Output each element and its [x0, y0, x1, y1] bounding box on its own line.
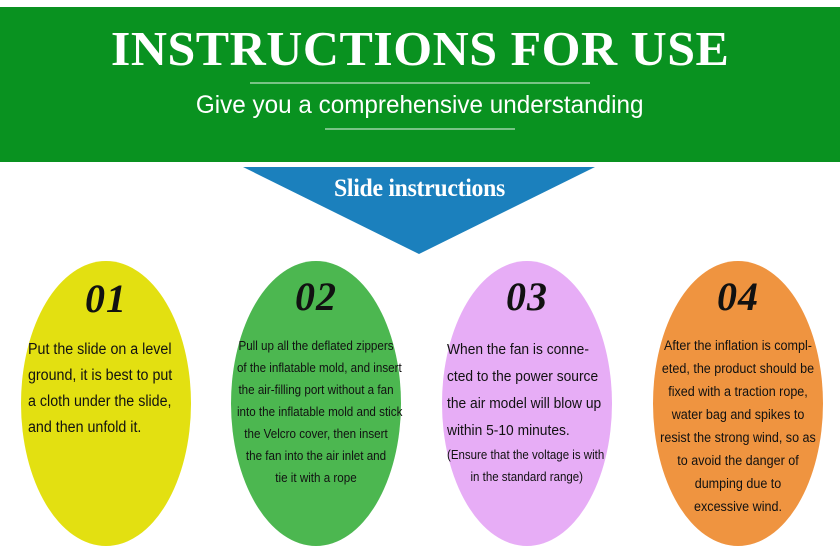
step-text-line: Pull up all the deflated zippers: [237, 335, 395, 357]
step-card-01: 01 Put the slide on a level ground, it i…: [21, 261, 191, 546]
instructions-infographic: INSTRUCTIONS FOR USE Give you a comprehe…: [0, 0, 840, 553]
page-title: INSTRUCTIONS FOR USE: [111, 23, 729, 74]
section-banner-label: Slide instructions: [252, 175, 587, 203]
step-text-line: within 5-10 minutes.: [447, 417, 599, 444]
step-text-line: of the inflatable mold, and insert: [237, 357, 395, 379]
step-text-line: cted to the power source: [447, 363, 599, 390]
step-text-line: the air model will blow up: [447, 390, 599, 417]
step-text-03: When the fan is conne- cted to the power…: [442, 336, 612, 488]
step-card-03: 03 When the fan is conne- cted to the po…: [442, 261, 612, 546]
step-text-line: fixed with a traction rope,: [659, 380, 817, 403]
step-card-02: 02 Pull up all the deflated zippers of t…: [231, 261, 401, 546]
step-text-line: the Velcro cover, then insert: [237, 423, 395, 445]
step-card-04: 04 After the inflation is compl- eted, t…: [653, 261, 823, 546]
section-banner: Slide instructions: [243, 167, 596, 254]
step-text-line: When the fan is conne-: [447, 336, 599, 363]
header-banner: INSTRUCTIONS FOR USE Give you a comprehe…: [0, 7, 840, 162]
step-text-line: eted, the product should be: [659, 357, 817, 380]
step-text-line: the air-filling port without a fan: [237, 379, 395, 401]
step-text-line: into the inflatable mold and stick: [237, 401, 395, 423]
step-number-03: 03: [506, 277, 548, 317]
step-text-line: excessive wind.: [659, 495, 817, 518]
step-text-line: and then unfold it.: [28, 415, 178, 441]
step-text-line: Put the slide on a level: [28, 337, 178, 363]
step-text-line: tie it with a rope: [237, 467, 395, 489]
step-text-02: Pull up all the deflated zippers of the …: [231, 335, 401, 489]
header-divider-top: [250, 82, 590, 84]
step-text-01: Put the slide on a level ground, it is b…: [21, 337, 191, 441]
step-text-line: a cloth under the slide,: [28, 389, 178, 415]
step-text-line: in the standard range): [454, 466, 606, 488]
step-text-line: After the inflation is compl-: [659, 334, 817, 357]
step-number-04: 04: [717, 277, 759, 317]
step-text-line: resist the strong wind, so as: [659, 426, 817, 449]
page-subtitle: Give you a comprehensive understanding: [196, 91, 644, 120]
step-text-line: dumping due to: [659, 472, 817, 495]
step-text-04: After the inflation is compl- eted, the …: [653, 334, 823, 518]
header-divider-bottom: [325, 128, 515, 130]
step-text-line: ground, it is best to put: [28, 363, 178, 389]
step-text-line: the fan into the air inlet and: [237, 445, 395, 467]
step-number-01: 01: [85, 279, 127, 319]
step-text-line: (Ensure that the voltage is with: [447, 444, 599, 466]
step-number-02: 02: [295, 277, 337, 317]
step-text-line: to avoid the danger of: [659, 449, 817, 472]
step-text-line: water bag and spikes to: [659, 403, 817, 426]
